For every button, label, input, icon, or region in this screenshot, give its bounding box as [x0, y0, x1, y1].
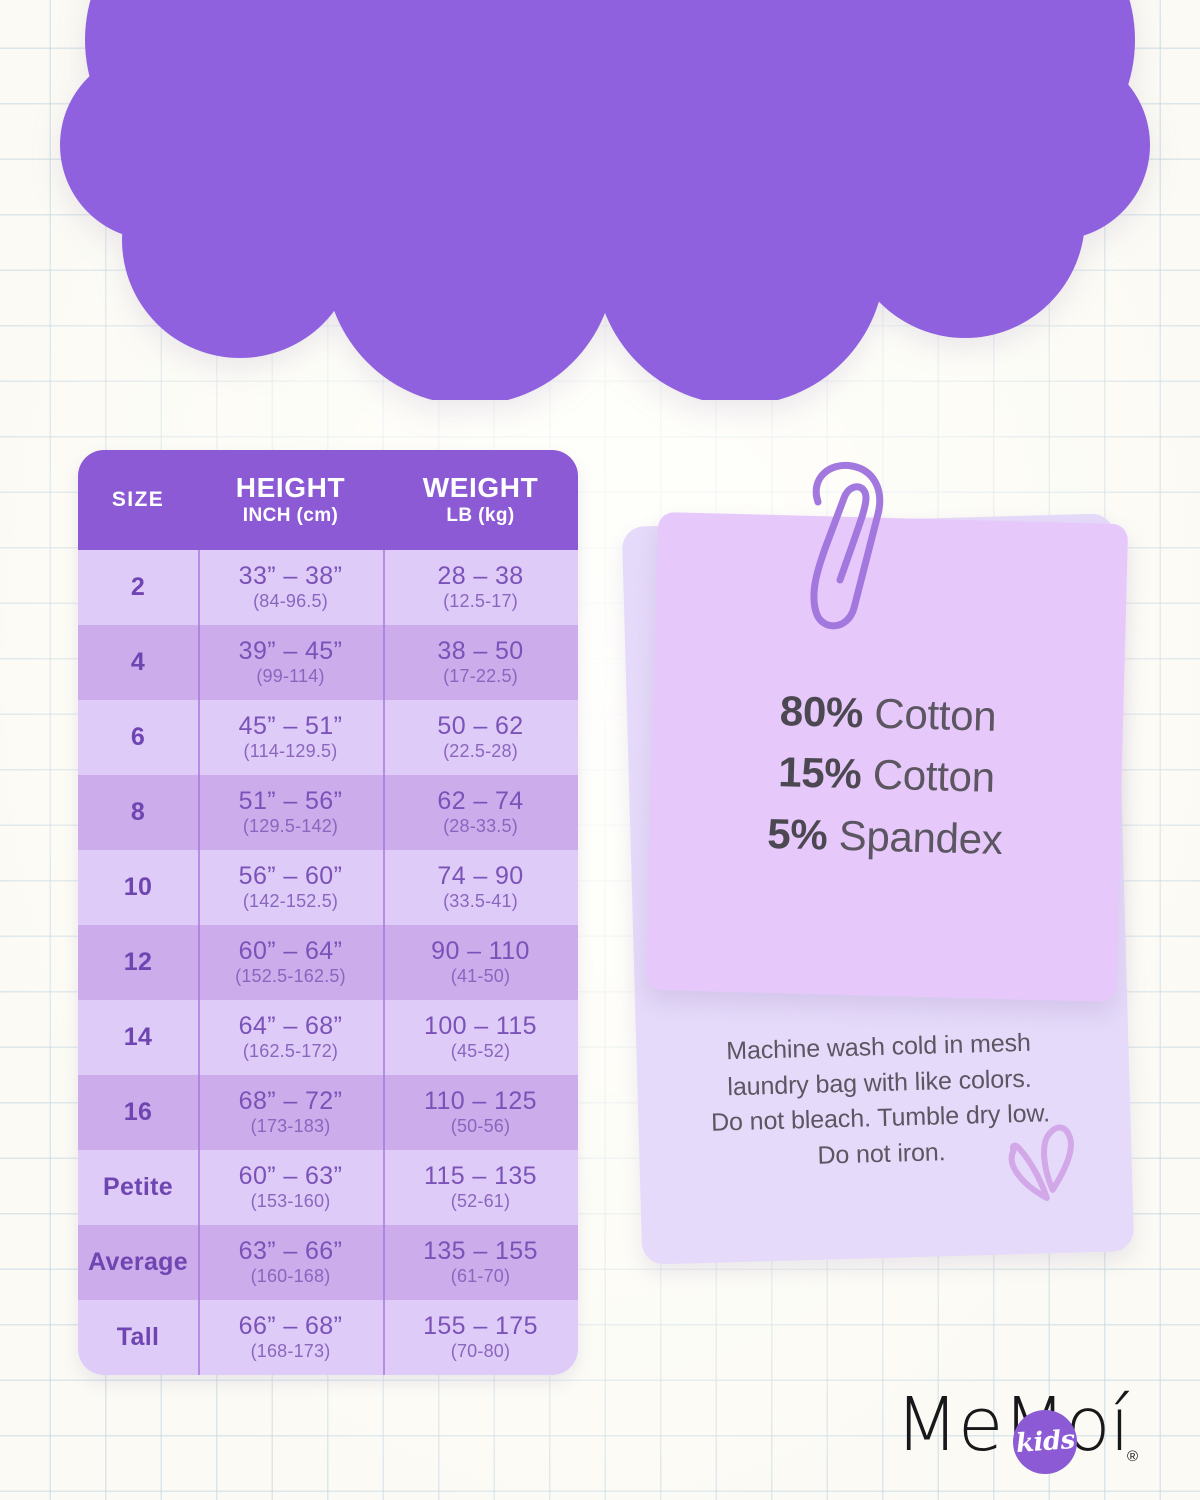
- table-row: 6 45” – 51”(114-129.5) 50 – 62(22.5-28): [78, 700, 578, 775]
- cell-weight-kg: (41-50): [451, 966, 510, 987]
- cell-height-cm: (142-152.5): [243, 891, 338, 912]
- cell-height-inch: 68” – 72”: [239, 1088, 343, 1116]
- cell-height-inch: 33” – 38”: [239, 563, 343, 591]
- fabric-percent: 5%: [767, 810, 828, 859]
- cell-size: 14: [124, 1023, 152, 1052]
- cell-weight-kg: (70-80): [451, 1341, 510, 1362]
- cell-height-inch: 63” – 66”: [239, 1238, 343, 1266]
- cell-weight-kg: (50-56): [451, 1116, 510, 1137]
- table-row: Tall 66” – 68”(168-173) 155 – 175(70-80): [78, 1300, 578, 1375]
- cell-height-cm: (153-160): [251, 1191, 331, 1212]
- table-row: 10 56” – 60”(142-152.5) 74 – 90(33.5-41): [78, 850, 578, 925]
- fabric-line: 15% Cotton: [778, 742, 996, 809]
- heart-doodle-icon: [999, 1119, 1097, 1217]
- table-row: 14 64” – 68”(162.5-172) 100 – 115(45-52): [78, 1000, 578, 1075]
- cell-weight-lb: 74 – 90: [437, 863, 523, 891]
- cell-weight-lb: 135 – 155: [423, 1238, 538, 1266]
- cell-size: 16: [124, 1098, 152, 1127]
- cell-size: Tall: [117, 1323, 159, 1352]
- fabric-material: Cotton: [874, 690, 997, 740]
- registered-trademark-mark: ®: [1127, 1448, 1138, 1465]
- column-header-height: HEIGHT INCH (cm): [198, 450, 383, 550]
- fabric-percent: 80%: [779, 687, 863, 736]
- table-row: Average 63” – 66”(160-168) 135 – 155(61-…: [78, 1225, 578, 1300]
- cell-weight-lb: 110 – 125: [424, 1088, 537, 1116]
- cell-size: 10: [124, 873, 152, 902]
- table-row: 4 39” – 45”(99-114) 38 – 50(17-22.5): [78, 625, 578, 700]
- brand-logo: MeMoí kids ®: [895, 1382, 1145, 1482]
- cell-size: 6: [131, 723, 145, 752]
- cell-height-inch: 60” – 63”: [239, 1163, 343, 1191]
- cell-weight-lb: 38 – 50: [437, 638, 523, 666]
- cell-height-cm: (160-168): [251, 1266, 331, 1287]
- table-body: 2 33” – 38”(84-96.5) 28 – 38(12.5-17) 4 …: [78, 550, 578, 1375]
- fabric-material: Spandex: [838, 811, 1003, 862]
- cell-height-inch: 66” – 68”: [239, 1313, 343, 1341]
- cell-weight-lb: 50 – 62: [437, 713, 523, 741]
- cell-size: Average: [88, 1248, 188, 1277]
- cell-height-inch: 56” – 60”: [239, 863, 343, 891]
- cell-height-cm: (114-129.5): [244, 741, 338, 762]
- table-row: 8 51” – 56”(129.5-142) 62 – 74(28-33.5): [78, 775, 578, 850]
- cell-height-inch: 45” – 51”: [239, 713, 343, 741]
- column-header-weight: WEIGHT LB (kg): [383, 450, 578, 550]
- cell-height-cm: (129.5-142): [243, 816, 338, 837]
- cell-weight-kg: (17-22.5): [443, 666, 518, 687]
- cell-height-cm: (162.5-172): [243, 1041, 338, 1062]
- cell-height-cm: (99-114): [256, 666, 324, 687]
- size-chart-table: SIZE HEIGHT INCH (cm) WEIGHT LB (kg) 2 3…: [78, 450, 578, 1375]
- cell-weight-lb: 62 – 74: [437, 788, 523, 816]
- table-row: 12 60” – 64”(152.5-162.5) 90 – 110(41-50…: [78, 925, 578, 1000]
- cell-height-cm: (168-173): [251, 1341, 331, 1362]
- cell-weight-lb: 28 – 38: [437, 563, 523, 591]
- cell-weight-kg: (61-70): [451, 1266, 510, 1287]
- fabric-line: 80% Cotton: [779, 680, 997, 747]
- logo-wordmark: MeMoí: [895, 1382, 1129, 1468]
- table-header-row: SIZE HEIGHT INCH (cm) WEIGHT LB (kg): [78, 450, 578, 550]
- cell-size: Petite: [103, 1173, 173, 1202]
- cell-size: 2: [131, 573, 145, 602]
- kids-badge-label: kids: [1015, 1425, 1076, 1459]
- cell-weight-lb: 155 – 175: [423, 1313, 538, 1341]
- cell-height-inch: 64” – 68”: [239, 1013, 343, 1041]
- cloud-header-banner: Find your suitable size: [0, 0, 1200, 400]
- column-header-size: SIZE: [78, 450, 198, 550]
- cell-height-cm: (84-96.5): [253, 591, 328, 612]
- fabric-material: Cotton: [872, 751, 995, 801]
- cell-weight-lb: 115 – 135: [424, 1163, 537, 1191]
- cell-weight-kg: (45-52): [451, 1041, 510, 1062]
- cell-weight-kg: (52-61): [451, 1191, 510, 1212]
- cell-height-cm: (173-183): [251, 1116, 331, 1137]
- cell-height-inch: 60” – 64”: [239, 938, 343, 966]
- cell-height-inch: 39” – 45”: [239, 638, 343, 666]
- kids-badge: kids: [1013, 1410, 1077, 1474]
- cell-height-inch: 51” – 56”: [239, 788, 343, 816]
- cell-weight-lb: 90 – 110: [431, 938, 530, 966]
- info-note-group: 80% Cotton 15% Cotton 5% Spandex Machine…: [600, 470, 1180, 1290]
- cell-size: 8: [131, 798, 145, 827]
- cell-size: 4: [131, 648, 145, 677]
- cell-weight-kg: (22.5-28): [443, 741, 518, 762]
- paperclip-icon: [796, 456, 906, 646]
- table-row: 16 68” – 72”(173-183) 110 – 125(50-56): [78, 1075, 578, 1150]
- cell-weight-kg: (12.5-17): [443, 591, 518, 612]
- table-row: 2 33” – 38”(84-96.5) 28 – 38(12.5-17): [78, 550, 578, 625]
- cell-height-cm: (152.5-162.5): [235, 966, 346, 987]
- cell-size: 12: [124, 948, 152, 977]
- fabric-percent: 15%: [778, 749, 862, 798]
- cell-weight-lb: 100 – 115: [424, 1013, 537, 1041]
- table-row: Petite 60” – 63”(153-160) 115 – 135(52-6…: [78, 1150, 578, 1225]
- cell-weight-kg: (28-33.5): [443, 816, 518, 837]
- cell-weight-kg: (33.5-41): [443, 891, 518, 912]
- fabric-line: 5% Spandex: [767, 803, 1004, 870]
- cloud-shape-icon: [0, 0, 1200, 400]
